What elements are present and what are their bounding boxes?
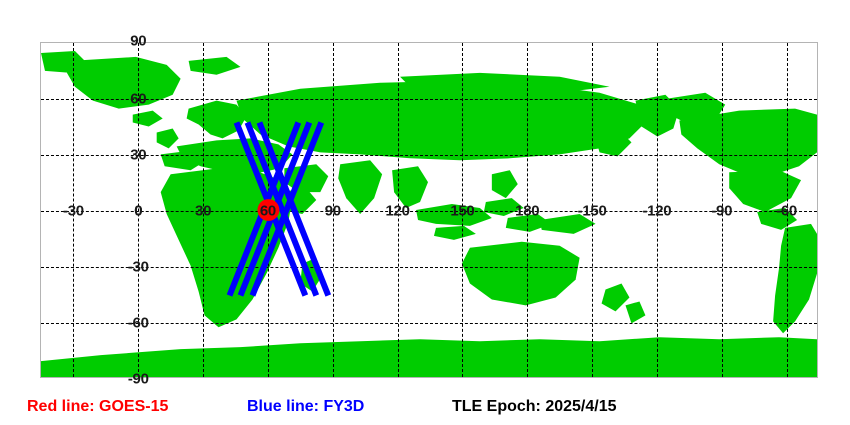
lat-tick-label: 60: [130, 92, 146, 107]
lat-tick-label: 30: [130, 148, 146, 163]
ground-track-map: -30 0 30 60 90 120 150 180 -150 -120 -90…: [40, 42, 818, 378]
lat-tick-label: -90: [128, 372, 149, 387]
lon-tick-label: 60: [260, 204, 276, 219]
lon-tick-label: 120: [386, 204, 410, 219]
lat-tick-label: -60: [128, 316, 149, 331]
lat-tick-label: 90: [130, 34, 146, 49]
lon-tick-label: -120: [642, 204, 671, 219]
lon-tick-label: -30: [63, 204, 84, 219]
map-legend: Red line: GOES-15 Blue line: FY3D TLE Ep…: [0, 392, 850, 422]
lon-tick-label: 180: [515, 204, 539, 219]
lon-tick-label: -60: [776, 204, 797, 219]
legend-red-line-goes15: Red line: GOES-15: [27, 392, 168, 422]
legend-tle-epoch: TLE Epoch: 2025/4/15: [452, 392, 617, 422]
lon-tick-label: -90: [711, 204, 732, 219]
satellite-tracks-layer: [41, 43, 817, 377]
lat-tick-label: 0: [134, 204, 142, 219]
lon-tick-label: 90: [325, 204, 341, 219]
lon-tick-label: 150: [450, 204, 474, 219]
screenshot-root: -30 0 30 60 90 120 150 180 -150 -120 -90…: [0, 0, 850, 425]
legend-blue-line-fy3d: Blue line: FY3D: [247, 392, 364, 422]
lon-tick-label: -150: [578, 204, 607, 219]
lat-tick-label: -30: [128, 260, 149, 275]
lon-tick-label: 30: [195, 204, 211, 219]
